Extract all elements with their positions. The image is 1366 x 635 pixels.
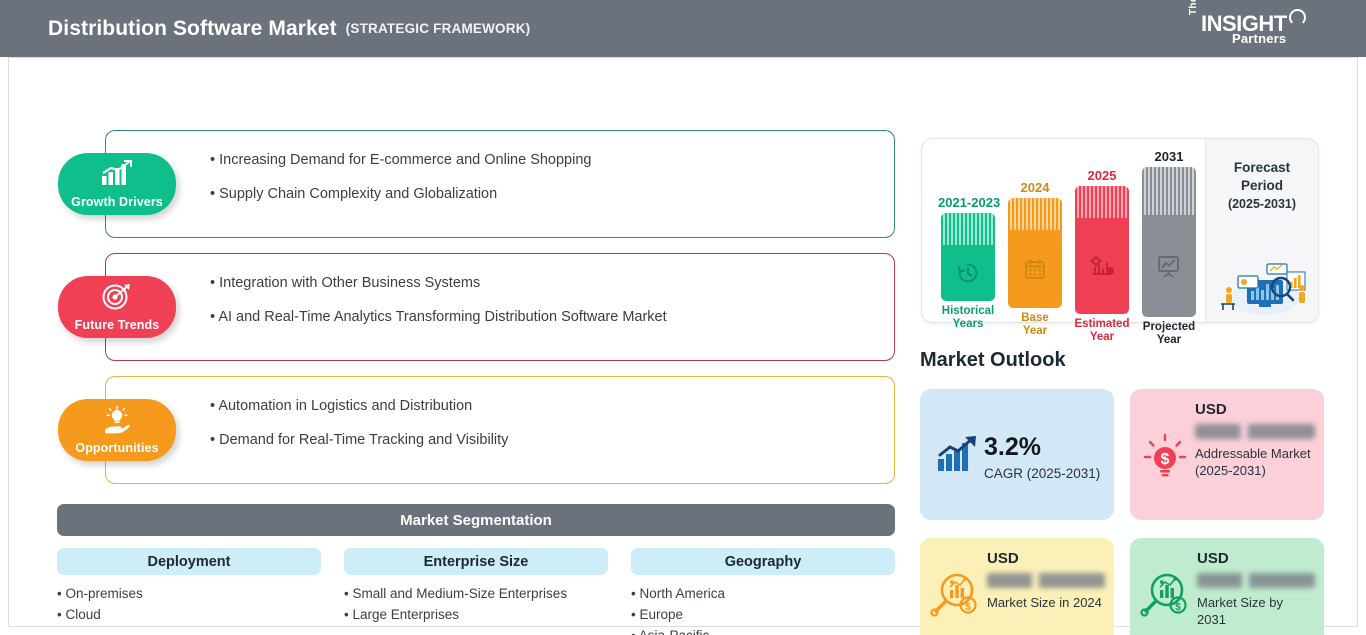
list-item: Supply Chain Complexity and Globalizatio… [210,185,591,205]
data-analysis-illustration [1213,254,1313,316]
bar-year-label: 2021-2023 [938,195,998,210]
future-trends-bullets: Integration with Other Business Systems … [210,274,667,341]
page-header: Distribution Software Market (STRATEGIC … [0,0,1366,57]
growth-drivers-bullets: Increasing Demand for E-commerce and Onl… [210,151,591,218]
blurred-value [1195,424,1315,439]
badge-growth-drivers[interactable]: Growth Drivers [58,153,176,215]
forecast-bars: 2021-2023 HistoricalYears [938,147,1198,322]
bar-stripe-top [1075,186,1129,218]
bar-chart-arrow-icon [936,435,980,478]
lightbulb-dollar-icon: $ [1142,433,1188,484]
svg-text:$: $ [965,602,971,613]
outlook-card-market-size-2024[interactable]: $ USD Market Size in 2024 [920,538,1114,635]
segmentation-column-enterprise-size: Enterprise Size Small and Medium-Size En… [344,548,608,626]
cagr-caption: CAGR (2025-2031) [984,466,1100,481]
market-outlook-title: Market Outlook [920,349,1066,372]
clock-history-icon [956,261,980,285]
outlook-card-addressable-market[interactable]: $ USD Addressable Market (2025-2031) [1130,389,1324,520]
card-caption: Market Size in 2024 [987,594,1105,611]
segmentation-column-title: Enterprise Size [344,548,608,575]
segmentation-column-title: Deployment [57,548,321,575]
currency-unit: USD [1195,401,1315,418]
page-title: Distribution Software Market [48,17,337,41]
presentation-chart-icon [1156,254,1182,278]
bar-historical-years: 2021-2023 HistoricalYears [938,195,998,331]
list-item: Cloud [57,605,321,626]
list-item: Integration with Other Business Systems [210,274,667,294]
segmentation-column-deployment: Deployment On-premises Cloud [57,548,321,626]
card-caption: Market Size by 2031 [1197,594,1315,628]
content-frame: Increasing Demand for E-commerce and Onl… [8,57,1358,627]
bar-caption: BaseYear [1005,312,1065,338]
bar-year-label: 2025 [1072,168,1132,183]
svg-text:$: $ [1175,602,1181,613]
list-item: Automation in Logistics and Distribution [210,397,508,417]
bar-solid-body [1008,230,1062,308]
bar-estimated-year: 2025 [1072,168,1132,344]
chart-gear-icon [1089,254,1115,278]
segmentation-column-geography: Geography North America Europe Asia-Paci… [631,548,895,635]
forecast-period-panel: Forecast Period (2025-2031) [1205,139,1318,322]
list-item: AI and Real-Time Analytics Transforming … [210,308,667,328]
outlook-card-cagr[interactable]: 3.2% CAGR (2025-2031) [920,389,1114,520]
forecast-period-line1: Forecast [1206,159,1318,177]
opportunities-bullets: Automation in Logistics and Distribution… [210,397,508,464]
bar-stripe-top [1008,198,1062,230]
list-item: On-premises [57,584,321,605]
panel-future-trends: Integration with Other Business Systems … [105,253,895,361]
cagr-value: 3.2% [984,435,1100,460]
market-segmentation-header: Market Segmentation [57,504,895,536]
bar-chart-growth-icon [100,160,134,191]
logo-the-text: The [1188,0,1199,15]
logo-partners-text: Partners [1232,31,1286,46]
svg-text:$: $ [1161,451,1170,468]
insight-partners-logo: The INSIGHT Partners [1188,9,1308,49]
badge-future-trends[interactable]: Future Trends [58,276,176,338]
magnifier-chart-dollar-icon: $ [930,570,980,625]
bar-solid-body [941,245,995,301]
bar-stripe-top [941,213,995,245]
card-caption: Addressable Market (2025-2031) [1195,445,1315,479]
forecast-period-range: (2025-2031) [1206,197,1318,211]
list-item: Increasing Demand for E-commerce and Onl… [210,151,591,171]
bar-caption: EstimatedYear [1072,318,1132,344]
currency-unit: USD [1197,550,1315,567]
infographic-page: Distribution Software Market (STRATEGIC … [0,0,1366,635]
list-item: Europe [631,605,895,626]
outlook-card-market-size-2031[interactable]: $ USD Market Size by 2031 [1130,538,1324,635]
bar-solid-body [1075,218,1129,314]
bar-caption: HistoricalYears [938,305,998,331]
list-item: North America [631,584,895,605]
blurred-value [1197,573,1315,588]
lightbulb-hand-icon [99,406,135,439]
magnifier-chart-dollar-icon: $ [1140,570,1190,625]
badge-label: Growth Drivers [71,195,163,209]
panel-growth-drivers: Increasing Demand for E-commerce and Onl… [105,130,895,238]
list-item: Large Enterprises [344,605,608,626]
list-item: Demand for Real-Time Tracking and Visibi… [210,431,508,451]
forecast-timeline-card: 2021-2023 HistoricalYears [921,138,1319,323]
bar-stripe-top [1142,167,1196,215]
badge-label: Opportunities [75,441,158,455]
target-dart-icon [101,283,133,315]
logo-circle-icon [1289,9,1306,26]
bar-caption: ProjectedYear [1139,321,1199,347]
bar-solid-body [1142,215,1196,317]
bar-projected-year: 2031 ProjectedYear [1139,149,1199,347]
page-subtitle: (STRATEGIC FRAMEWORK) [346,21,531,36]
blurred-value [987,573,1105,588]
badge-opportunities[interactable]: Opportunities [58,399,176,461]
badge-label: Future Trends [75,318,160,332]
bar-year-label: 2024 [1005,180,1065,195]
bar-year-label: 2031 [1139,149,1199,164]
list-item: Small and Medium-Size Enterprises [344,584,608,605]
list-item: Asia-Pacific [631,626,895,635]
currency-unit: USD [987,550,1105,567]
segmentation-column-title: Geography [631,548,895,575]
panel-opportunities: Automation in Logistics and Distribution… [105,376,895,484]
bar-base-year: 2024 [1005,180,1065,338]
calendar-icon [1023,257,1047,281]
forecast-period-line2: Period [1206,177,1318,195]
